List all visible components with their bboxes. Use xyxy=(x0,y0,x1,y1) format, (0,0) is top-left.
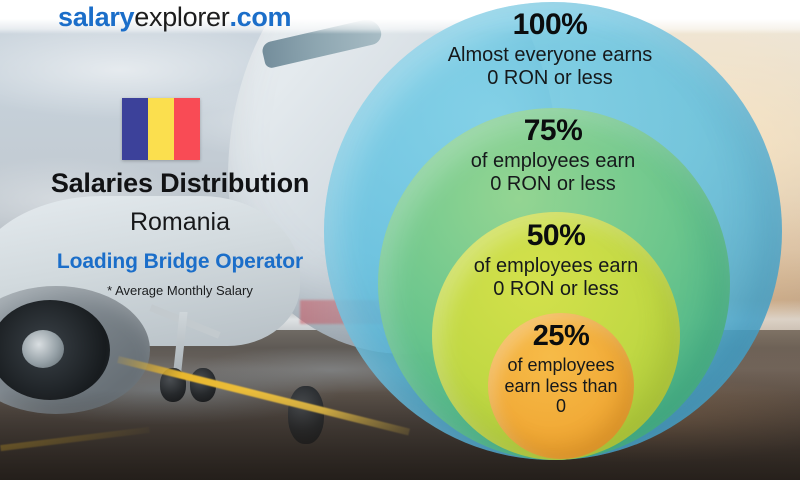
percentile-line3-25: 0 xyxy=(486,396,636,417)
percentile-value-50: 50% xyxy=(432,219,680,254)
percentile-line2-50: 0 RON or less xyxy=(432,278,680,301)
percentile-line2-75: 0 RON or less xyxy=(418,173,688,196)
percentile-label-50: 50% of employees earn 0 RON or less xyxy=(432,219,680,301)
percentile-line2-25: earn less than xyxy=(486,376,636,397)
country-label: Romania xyxy=(0,208,360,237)
flag-stripe-blue xyxy=(122,98,148,160)
romania-flag-icon xyxy=(122,98,200,160)
salary-distribution-infographic: salaryexplorer.com Salaries Distribution… xyxy=(0,0,800,480)
job-title-label: Loading Bridge Operator xyxy=(0,250,360,274)
logo-text-salary: salary xyxy=(58,2,134,32)
percentile-line1-50: of employees earn xyxy=(432,255,680,278)
logo-text-com: .com xyxy=(229,2,291,32)
percentile-line1-100: Almost everyone earns xyxy=(400,44,700,67)
page-title: Salaries Distribution xyxy=(0,168,360,199)
flag-stripe-yellow xyxy=(148,98,174,160)
percentile-line1-75: of employees earn xyxy=(418,150,688,173)
airplane-engine-hub xyxy=(22,330,64,368)
percentile-value-100: 100% xyxy=(400,8,700,43)
footnote-label: * Average Monthly Salary xyxy=(0,283,360,298)
percentile-value-25: 25% xyxy=(486,320,636,354)
logo-text-explorer: explorer xyxy=(134,2,229,32)
percentile-line2-100: 0 RON or less xyxy=(400,67,700,90)
flag-stripe-red xyxy=(174,98,200,160)
percentile-line1-25: of employees xyxy=(486,355,636,376)
percentile-value-75: 75% xyxy=(418,114,688,149)
percentile-label-25: 25% of employees earn less than 0 xyxy=(486,320,636,417)
percentile-label-75: 75% of employees earn 0 RON or less xyxy=(418,114,688,196)
percentile-label-100: 100% Almost everyone earns 0 RON or less xyxy=(400,8,700,90)
site-logo[interactable]: salaryexplorer.com xyxy=(58,2,291,32)
